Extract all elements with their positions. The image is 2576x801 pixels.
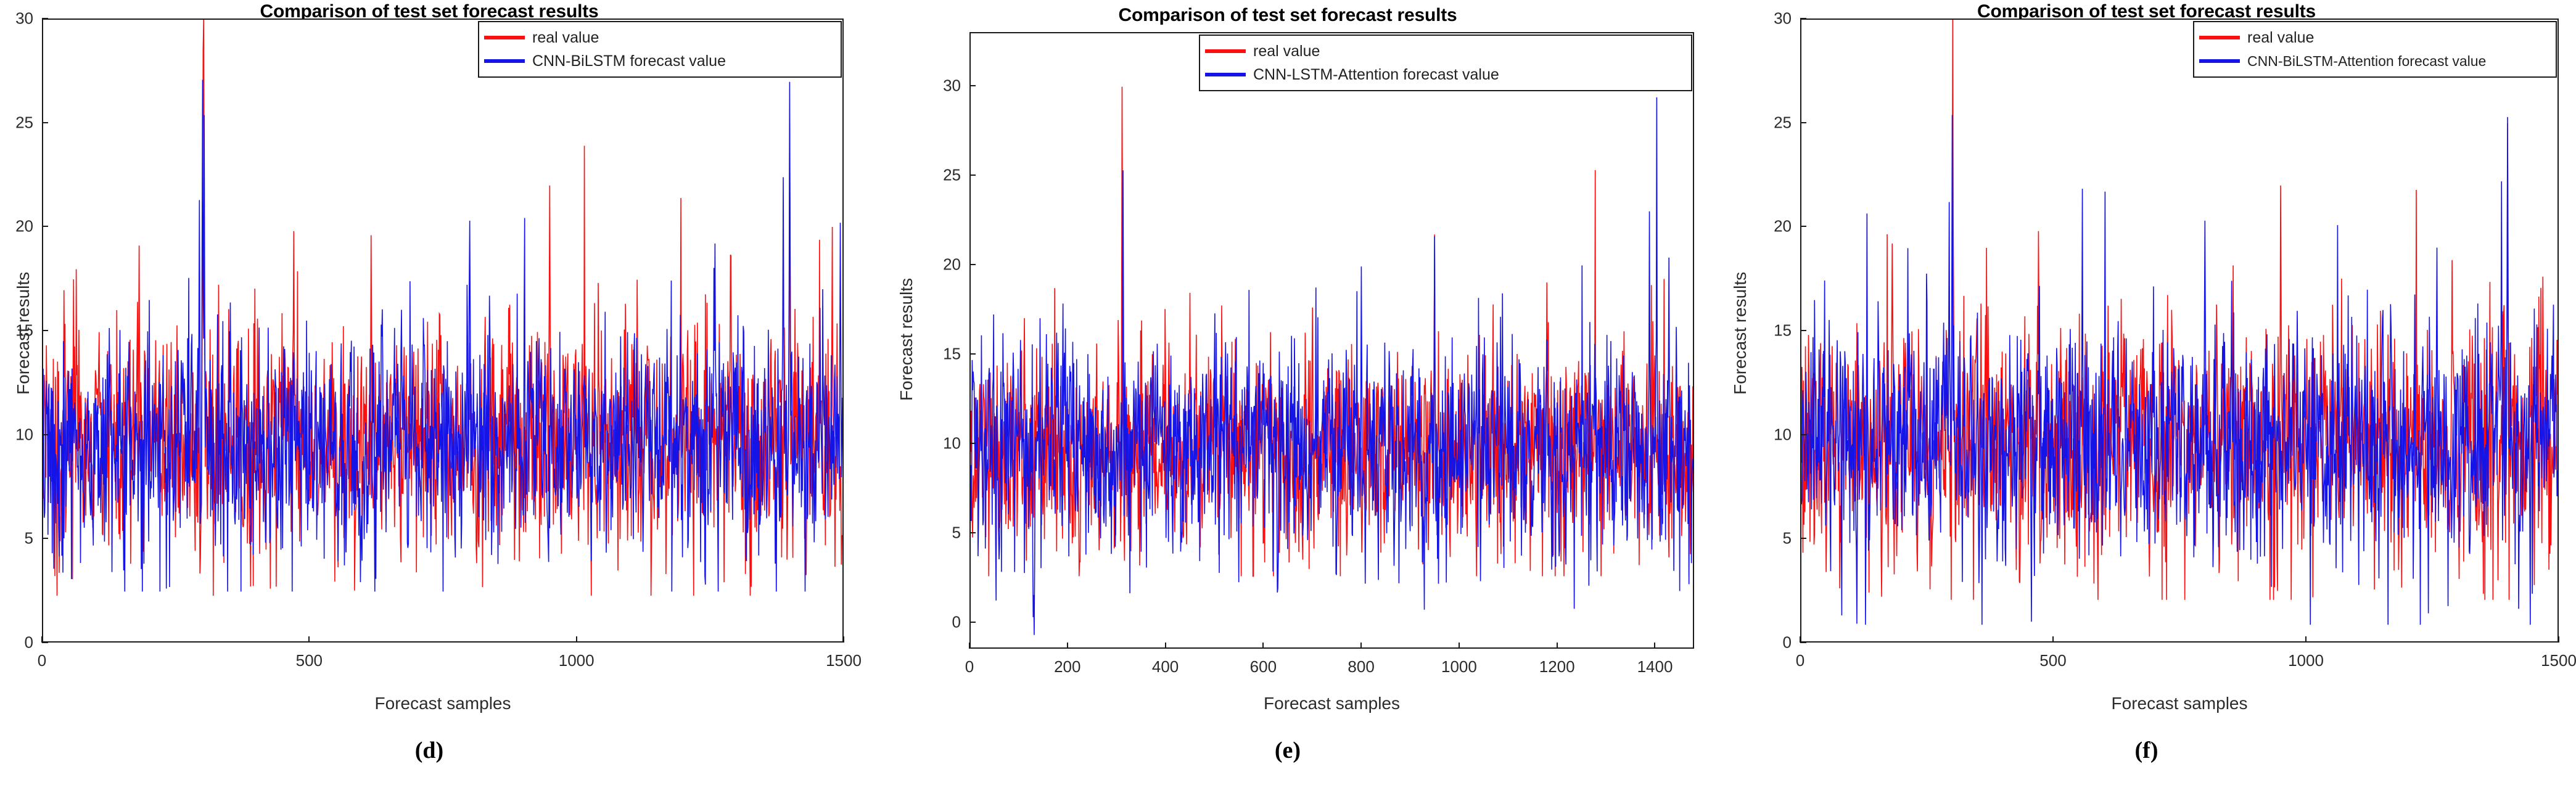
y-tick-label: 20 bbox=[0, 217, 33, 236]
x-tick bbox=[308, 636, 310, 643]
x-tick-label: 0 bbox=[38, 651, 46, 670]
y-tick bbox=[42, 642, 48, 643]
y-tick-label: 15 bbox=[921, 344, 961, 363]
x-tick-label: 600 bbox=[1250, 657, 1277, 676]
x-tick bbox=[2052, 636, 2054, 643]
plot-svg-d bbox=[43, 20, 842, 641]
legend-label-forecast: CNN-LSTM-Attention forecast value bbox=[1253, 66, 1499, 84]
y-tick bbox=[969, 85, 976, 86]
x-tick bbox=[1067, 643, 1068, 649]
y-axis-title: Forecast results bbox=[14, 272, 33, 395]
y-tick-label: 15 bbox=[1752, 321, 1792, 340]
legend-item-real: real value bbox=[2199, 26, 2549, 49]
x-tick bbox=[843, 636, 844, 643]
chart-panel-d: Comparison of test set forecast results … bbox=[0, 0, 858, 801]
x-tick-label: 1500 bbox=[826, 651, 862, 670]
x-tick bbox=[1360, 643, 1362, 649]
legend-item-real: real value bbox=[1205, 39, 1685, 63]
figure-row: Comparison of test set forecast results … bbox=[0, 0, 2576, 801]
legend-e: real value CNN-LSTM-Attention forecast v… bbox=[1199, 35, 1692, 91]
x-tick-label: 1000 bbox=[559, 651, 595, 670]
y-tick-label: 5 bbox=[0, 529, 33, 548]
legend-label-forecast: CNN-BiLSTM forecast value bbox=[532, 52, 726, 70]
y-tick bbox=[1800, 642, 1806, 643]
x-tick bbox=[1165, 643, 1166, 649]
x-tick-label: 500 bbox=[296, 651, 323, 670]
y-tick bbox=[969, 532, 976, 533]
y-tick bbox=[1800, 122, 1806, 123]
panel-caption-d: (d) bbox=[0, 737, 858, 764]
y-tick bbox=[969, 622, 976, 623]
y-tick-label: 10 bbox=[921, 433, 961, 453]
legend-label-forecast: CNN-BiLSTM-Attention forecast value bbox=[2247, 53, 2486, 70]
legend-item-forecast: CNN-BiLSTM forecast value bbox=[484, 49, 834, 73]
legend-label-real: real value bbox=[2247, 29, 2314, 47]
y-tick bbox=[1800, 330, 1806, 331]
x-tick-label: 400 bbox=[1152, 657, 1179, 676]
y-axis-title: Forecast results bbox=[897, 278, 916, 401]
legend-item-real: real value bbox=[484, 26, 834, 49]
y-tick-label: 20 bbox=[1752, 217, 1792, 236]
y-tick-label: 10 bbox=[1752, 425, 1792, 444]
y-tick-label: 0 bbox=[921, 612, 961, 631]
x-tick bbox=[1459, 643, 1460, 649]
y-tick bbox=[42, 330, 48, 331]
y-tick bbox=[969, 443, 976, 444]
x-axis-title: Forecast samples bbox=[42, 694, 844, 713]
y-tick-label: 5 bbox=[1752, 529, 1792, 548]
x-axis-title: Forecast samples bbox=[969, 694, 1694, 713]
x-tick bbox=[2305, 636, 2306, 643]
x-tick bbox=[1800, 636, 1801, 643]
legend-swatch-forecast bbox=[484, 59, 525, 63]
y-axis-title: Forecast results bbox=[1730, 272, 1750, 395]
legend-swatch-forecast bbox=[1205, 73, 1246, 76]
x-tick-label: 0 bbox=[1796, 651, 1804, 670]
y-tick-label: 25 bbox=[921, 165, 961, 184]
x-tick-label: 800 bbox=[1348, 657, 1374, 676]
x-tick-label: 1000 bbox=[2288, 651, 2324, 670]
y-tick-label: 25 bbox=[1752, 113, 1792, 132]
x-tick-label: 500 bbox=[2039, 651, 2066, 670]
chart-title: Comparison of test set forecast results bbox=[858, 5, 1717, 26]
y-tick-label: 20 bbox=[921, 255, 961, 274]
y-tick-label: 10 bbox=[0, 425, 33, 444]
y-tick-label: 30 bbox=[0, 9, 33, 28]
plot-area-d bbox=[42, 18, 844, 643]
legend-swatch-real bbox=[484, 36, 525, 39]
x-axis-title: Forecast samples bbox=[1800, 694, 2559, 713]
plot-svg-e bbox=[971, 33, 1693, 647]
panel-caption-e: (e) bbox=[858, 737, 1717, 764]
legend-swatch-real bbox=[2199, 36, 2240, 39]
legend-f: real value CNN-BiLSTM-Attention forecast… bbox=[2193, 21, 2557, 78]
x-tick bbox=[1262, 643, 1264, 649]
y-tick bbox=[1800, 18, 1806, 19]
y-tick-label: 30 bbox=[921, 76, 961, 95]
legend-d: real value CNN-BiLSTM forecast value bbox=[478, 21, 842, 78]
y-tick-label: 30 bbox=[1752, 9, 1792, 28]
y-tick-label: 5 bbox=[921, 523, 961, 542]
panel-caption-f-text: (f) bbox=[2135, 737, 2158, 763]
plot-svg-f bbox=[1801, 20, 2557, 641]
panel-caption-f: (f) bbox=[1717, 737, 2576, 764]
x-tick bbox=[969, 643, 970, 649]
x-tick-label: 1500 bbox=[2541, 651, 2576, 670]
y-tick-label: 0 bbox=[0, 633, 33, 652]
y-tick bbox=[1800, 538, 1806, 539]
y-tick bbox=[969, 264, 976, 265]
legend-label-real: real value bbox=[1253, 43, 1320, 60]
x-tick bbox=[1557, 643, 1558, 649]
panel-caption-d-text: (d) bbox=[415, 737, 443, 763]
legend-item-forecast: CNN-BiLSTM-Attention forecast value bbox=[2199, 49, 2549, 73]
y-tick bbox=[42, 122, 48, 123]
chart-panel-e: Comparison of test set forecast results … bbox=[858, 0, 1717, 801]
x-tick bbox=[41, 636, 43, 643]
y-tick bbox=[1800, 226, 1806, 227]
y-tick bbox=[1800, 434, 1806, 435]
x-tick-label: 200 bbox=[1054, 657, 1080, 676]
y-tick bbox=[42, 226, 48, 227]
y-tick bbox=[42, 18, 48, 19]
x-tick-label: 1200 bbox=[1539, 657, 1575, 676]
plot-area-e bbox=[969, 32, 1694, 649]
x-tick bbox=[2558, 636, 2559, 643]
plot-area-f bbox=[1800, 18, 2559, 643]
x-tick bbox=[1654, 643, 1655, 649]
legend-label-real: real value bbox=[532, 29, 599, 47]
x-tick-label: 1400 bbox=[1637, 657, 1673, 676]
y-tick bbox=[42, 434, 48, 435]
y-tick bbox=[969, 353, 976, 355]
y-tick-label: 25 bbox=[0, 113, 33, 132]
chart-panel-f: Comparison of test set forecast results … bbox=[1717, 0, 2576, 801]
x-tick-label: 1000 bbox=[1441, 657, 1477, 676]
x-tick bbox=[576, 636, 577, 643]
legend-swatch-real bbox=[1205, 49, 1246, 53]
y-tick-label: 0 bbox=[1752, 633, 1792, 652]
x-tick-label: 0 bbox=[965, 657, 974, 676]
panel-caption-e-text: (e) bbox=[1275, 737, 1301, 763]
legend-item-forecast: CNN-LSTM-Attention forecast value bbox=[1205, 63, 1685, 86]
y-tick bbox=[42, 538, 48, 539]
y-tick bbox=[969, 175, 976, 176]
legend-swatch-forecast bbox=[2199, 59, 2240, 63]
